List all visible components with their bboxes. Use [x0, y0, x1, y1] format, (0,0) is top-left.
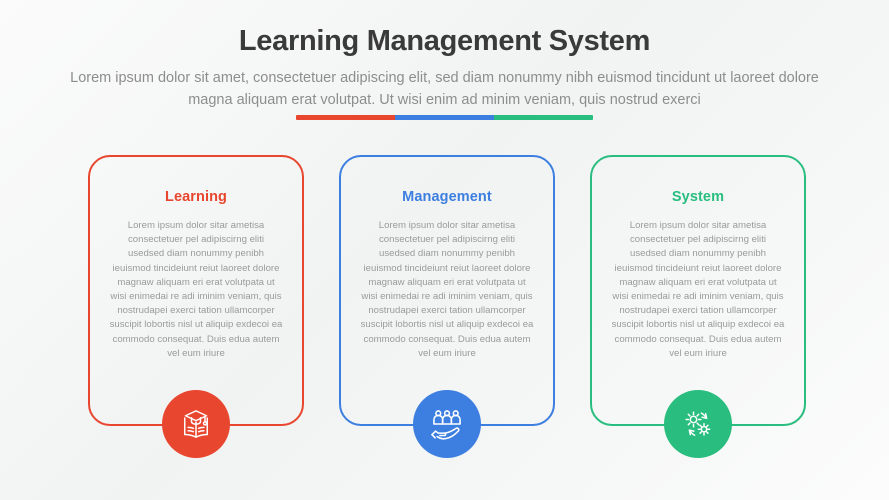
- card-body-text: Lorem ipsum dolor sitar ametisa consecte…: [109, 219, 283, 361]
- card-title: Learning: [90, 189, 302, 205]
- divider-segment-green: [494, 115, 593, 120]
- gears-process-icon: [680, 406, 716, 442]
- card-management[interactable]: Management Lorem ipsum dolor sitar ameti…: [339, 155, 555, 426]
- cards-row: Learning Lorem ipsum dolor sitar ametisa…: [88, 155, 806, 426]
- card-learning[interactable]: Learning Lorem ipsum dolor sitar ametisa…: [88, 155, 304, 426]
- header: Learning Management System Lorem ipsum d…: [0, 22, 889, 111]
- slide-root: Learning Management System Lorem ipsum d…: [0, 0, 889, 500]
- divider-segment-red: [296, 115, 395, 120]
- card-body-text: Lorem ipsum dolor sitar ametisa consecte…: [611, 219, 785, 361]
- card-icon-badge[interactable]: [162, 390, 230, 458]
- card-system[interactable]: System Lorem ipsum dolor sitar ametisa c…: [590, 155, 806, 426]
- card-body-text: Lorem ipsum dolor sitar ametisa consecte…: [360, 219, 534, 361]
- graduation-book-icon: [178, 406, 214, 442]
- card-icon-badge[interactable]: [413, 390, 481, 458]
- tricolor-divider: [296, 115, 593, 120]
- hand-holding-people-icon: [428, 405, 466, 443]
- card-title: Management: [341, 189, 553, 205]
- divider-segment-blue: [395, 115, 494, 120]
- card-icon-badge[interactable]: [664, 390, 732, 458]
- page-title: Learning Management System: [0, 22, 889, 60]
- card-title: System: [592, 189, 804, 205]
- page-subtitle: Lorem ipsum dolor sit amet, consectetuer…: [0, 67, 889, 111]
